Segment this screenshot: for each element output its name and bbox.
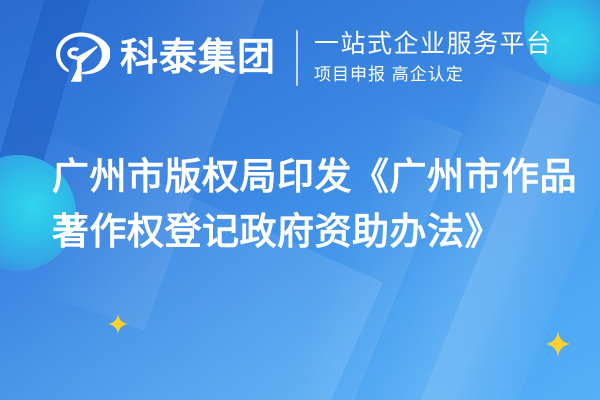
headline: 广州市版权局印发《广州市作品 著作权登记政府资助办法》	[52, 150, 562, 260]
header-divider	[296, 30, 298, 86]
four-point-sparkle-icon	[546, 331, 570, 357]
brand-name: 科泰集团	[120, 39, 276, 77]
banner-header: 科泰集团 一站式企业服务平台 项目申报 高企认定	[52, 22, 553, 94]
promo-banner: 科泰集团 一站式企业服务平台 项目申报 高企认定 广州市版权局印发《广州市作品 …	[0, 0, 600, 400]
tagline-sub: 项目申报 高企认定	[314, 64, 553, 86]
ketai-circular-k-logo-icon	[52, 29, 110, 87]
headline-line-1: 广州市版权局印发《广州市作品	[52, 150, 562, 205]
four-point-sparkle-icon	[108, 314, 128, 334]
tagline-main: 一站式企业服务平台	[314, 30, 553, 60]
headline-line-2: 著作权登记政府资助办法》	[52, 205, 562, 260]
tagline-block: 一站式企业服务平台 项目申报 高企认定	[314, 30, 553, 86]
